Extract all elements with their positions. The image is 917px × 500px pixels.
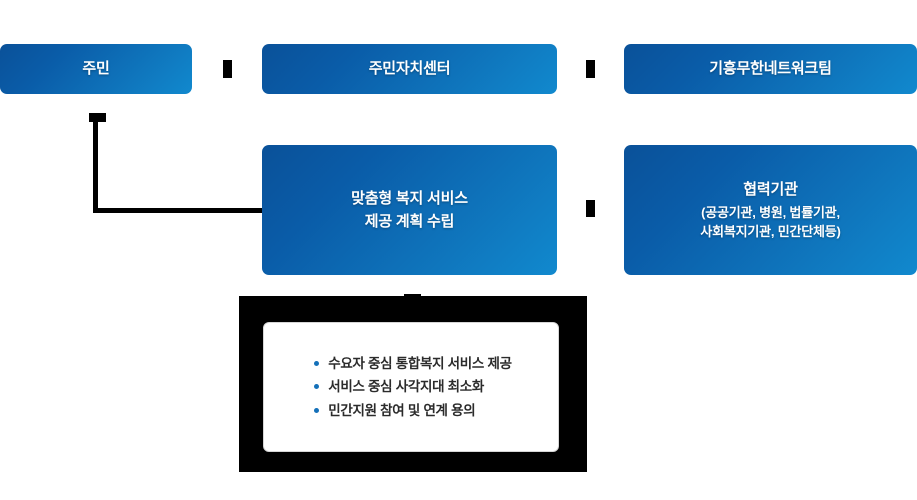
node-resident-label: 주민 (82, 57, 109, 80)
outcome-list-item: 수요자 중심 통합복지 서비스 제공 (314, 352, 511, 375)
connector-line-horizontal-to-welfare-plan (93, 208, 264, 213)
outcome-panel-card: 수요자 중심 통합복지 서비스 제공서비스 중심 사각지대 최소화민간지원 참여… (263, 322, 559, 452)
outcome-list-item: 서비스 중심 사각지대 최소화 (314, 375, 511, 398)
connector-line-vertical-resident (93, 118, 98, 213)
arrow-right-icon-center-to-team (586, 60, 595, 78)
outcome-list: 수요자 중심 통합복지 서비스 제공서비스 중심 사각지대 최소화민간지원 참여… (310, 352, 511, 422)
arrow-right-icon-plan-to-partners (586, 200, 595, 217)
node-partners-label: 협력기관 (743, 178, 797, 201)
node-network-team-label: 기흥무한네트워크팀 (709, 57, 831, 80)
node-welfare-plan[interactable]: 맞춤형 복지 서비스 제공 계획 수립 (262, 145, 557, 275)
node-partners-sublabel: (공공기관, 병원, 법률기관, 사회복지기관, 민간단체등) (700, 204, 840, 242)
welfare-service-flow-diagram: 주민 주민자치센터 기흥무한네트워크팀 맞춤형 복지 서비스 제공 계획 수립 … (0, 0, 917, 500)
node-network-team[interactable]: 기흥무한네트워크팀 (624, 44, 917, 94)
node-partners[interactable]: 협력기관 (공공기관, 병원, 법률기관, 사회복지기관, 민간단체등) (624, 145, 917, 275)
node-community-center[interactable]: 주민자치센터 (262, 44, 557, 94)
outcome-list-item: 민간지원 참여 및 연계 용의 (314, 399, 511, 422)
node-resident[interactable]: 주민 (0, 44, 192, 94)
node-welfare-plan-label: 맞춤형 복지 서비스 제공 계획 수립 (351, 187, 468, 234)
arrow-right-icon-resident-to-center (223, 60, 232, 78)
node-community-center-label: 주민자치센터 (369, 57, 451, 80)
